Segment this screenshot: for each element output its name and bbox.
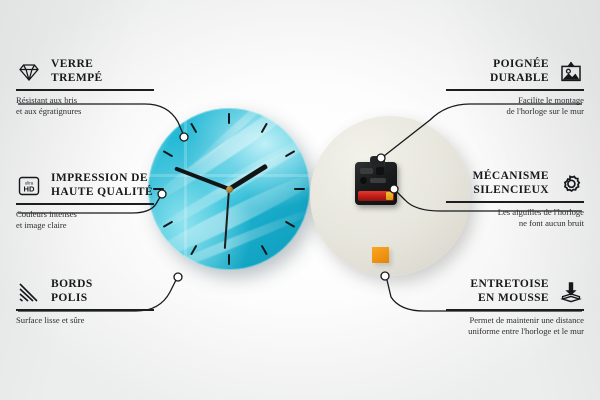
feature-description: Couleurs intenses et image claire [16, 209, 154, 231]
hanging-tab [370, 156, 385, 166]
hour-marker [153, 188, 229, 190]
divider [446, 201, 584, 203]
battery [358, 191, 394, 201]
svg-text:HD: HD [24, 184, 35, 193]
divider [16, 203, 154, 205]
feature-header: POIGNÉE DURABLE [446, 58, 584, 85]
feature-title: BORDS POLIS [51, 278, 93, 305]
feature-header: ENTRETOISE EN MOUSSE [446, 278, 584, 305]
feature-tempered-glass: VERRE TREMPÉ Résistant aux bris et aux é… [16, 58, 154, 117]
feature-header: VERRE TREMPÉ [16, 58, 154, 85]
mechanism-knob [360, 177, 367, 184]
foam-spacer [372, 247, 389, 263]
clock-mechanism [355, 162, 397, 205]
feature-description: Les aiguilles de l'horloge ne font aucun… [446, 207, 584, 229]
mechanism-detail [376, 167, 384, 175]
feature-title: MÉCANISME SILENCIEUX [473, 170, 549, 197]
feature-header: ultra HD IMPRESSION DE HAUTE QUALITÉ [16, 172, 154, 199]
mechanism-detail [360, 168, 373, 174]
feature-description: Facilite le montage de l'horloge sur le … [446, 95, 584, 117]
feature-title: IMPRESSION DE HAUTE QUALITÉ [51, 172, 153, 199]
hands-center-cap [226, 186, 233, 193]
feature-header: BORDS POLIS [16, 278, 154, 305]
feature-foam-spacer: ENTRETOISE EN MOUSSE Permet de maintenir… [446, 278, 584, 337]
connector-dot-edges [174, 273, 182, 281]
diamond-icon [16, 59, 42, 85]
feature-description: Résistant aux bris et aux égratignures [16, 95, 154, 117]
feature-polished-edges: BORDS POLIS Surface lisse et sûre [16, 278, 154, 326]
feature-high-quality-print: ultra HD IMPRESSION DE HAUTE QUALITÉ Cou… [16, 172, 154, 231]
feature-title: VERRE TREMPÉ [51, 58, 103, 85]
feature-title: ENTRETOISE EN MOUSSE [470, 278, 549, 305]
feature-description: Surface lisse et sûre [16, 315, 154, 326]
gear-icon [558, 171, 584, 197]
hour-marker [228, 113, 230, 189]
hour-marker [229, 188, 305, 190]
divider [446, 309, 584, 311]
feature-title: POIGNÉE DURABLE [490, 58, 549, 85]
feature-header: MÉCANISME SILENCIEUX [446, 170, 584, 197]
clock-front-face [148, 108, 310, 270]
down-arrow-stack-icon [558, 279, 584, 305]
ultra-hd-icon: ultra HD [16, 173, 42, 199]
hanging-picture-icon [558, 59, 584, 85]
divider [16, 309, 154, 311]
diagonal-lines-icon [16, 279, 42, 305]
divider [446, 89, 584, 91]
feature-durable-handle: POIGNÉE DURABLE Facilite le montage de l… [446, 58, 584, 117]
feature-description: Permet de maintenir une distance uniform… [446, 315, 584, 337]
divider [16, 89, 154, 91]
feature-silent-mechanism: MÉCANISME SILENCIEUX Les aiguilles de l'… [446, 170, 584, 229]
infographic-canvas: VERRE TREMPÉ Résistant aux bris et aux é… [0, 0, 600, 400]
mechanism-detail [370, 178, 386, 183]
